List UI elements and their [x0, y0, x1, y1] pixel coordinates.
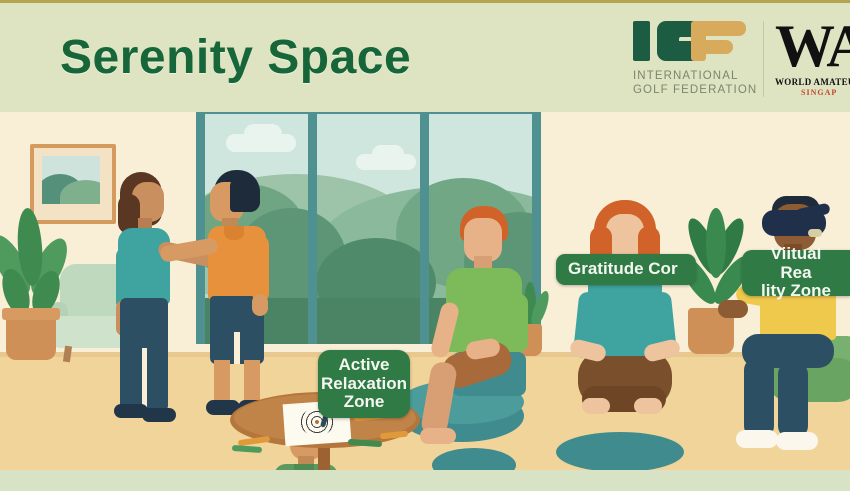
- person-arm: [510, 294, 528, 352]
- picture-canvas: [42, 156, 100, 204]
- igf-logo-name-line1: INTERNATIONAL: [633, 69, 758, 83]
- person-hand: [718, 300, 748, 318]
- poster: Serenity Space INTERNATIONAL GOLF FEDERA…: [0, 0, 850, 491]
- person-shin: [744, 358, 774, 438]
- person-vr-user: [752, 192, 850, 462]
- person-shin: [778, 362, 808, 438]
- person-hand: [252, 294, 268, 316]
- cloud-icon: [244, 124, 282, 144]
- colored-pencil: [238, 436, 271, 446]
- igf-logo-name-line2: GOLF FEDERATION: [633, 83, 758, 97]
- cloud-icon: [372, 145, 404, 163]
- igf-letter-i: [633, 21, 650, 61]
- bottom-band: [0, 470, 850, 491]
- zone-badge-virtual-reality-zone[interactable]: Viitual Rea lity Zone: [742, 250, 850, 296]
- igf-logo-name: INTERNATIONAL GOLF FEDERATION: [633, 69, 758, 97]
- wat-logo: WA WORLD AMATEUR T SINGAP: [775, 17, 850, 107]
- colored-pencil: [232, 445, 262, 453]
- person-leg-gap: [234, 332, 240, 364]
- person-foot: [582, 398, 610, 414]
- person-collar: [224, 226, 244, 240]
- window-mullion: [420, 112, 429, 344]
- igf-logo: INTERNATIONAL GOLF FEDERATION: [633, 19, 758, 103]
- page-title: Serenity Space: [60, 21, 580, 93]
- person-arm: [252, 236, 269, 302]
- window-frame-top: [196, 112, 541, 114]
- person-foot: [634, 398, 662, 414]
- wat-logo-mark: WA: [775, 17, 850, 75]
- person-leg-gap: [142, 348, 147, 410]
- armchair-leg: [63, 346, 72, 363]
- igf-logo-mark: [633, 19, 753, 63]
- person-foot: [420, 428, 456, 444]
- vr-headset-highlight: [808, 229, 822, 237]
- person-stretching: [436, 206, 542, 426]
- person-sneaker: [736, 430, 778, 448]
- framed-landscape-picture: [30, 144, 116, 224]
- zone-badge-gratitude-corner[interactable]: Gratitude Cor: [556, 254, 696, 285]
- wat-logo-city: SINGAP: [801, 88, 850, 97]
- igf-letter-f-top: [691, 21, 746, 36]
- illustration-scene: Welcome Area Active Relaxation Zone Grat…: [0, 112, 850, 470]
- vr-headset-icon: [762, 210, 826, 236]
- person-meditating: [578, 200, 674, 444]
- person-shoe: [142, 408, 176, 422]
- person-visitor-man: [200, 170, 280, 428]
- logo-divider: [763, 21, 764, 97]
- window-mullion: [308, 112, 317, 344]
- plant-pot-rim: [2, 308, 60, 320]
- person-sneaker: [776, 432, 818, 450]
- igf-letter-f-mid: [691, 40, 733, 54]
- person-hair-side: [230, 178, 260, 212]
- plant-leaf: [706, 208, 726, 278]
- person-greeter-woman: [112, 172, 184, 432]
- zone-badge-active-relaxation-zone[interactable]: Active Relaxation Zone: [318, 350, 410, 418]
- wat-logo-subtitle: WORLD AMATEUR T: [775, 77, 850, 87]
- header-band: Serenity Space INTERNATIONAL GOLF FEDERA…: [0, 3, 850, 112]
